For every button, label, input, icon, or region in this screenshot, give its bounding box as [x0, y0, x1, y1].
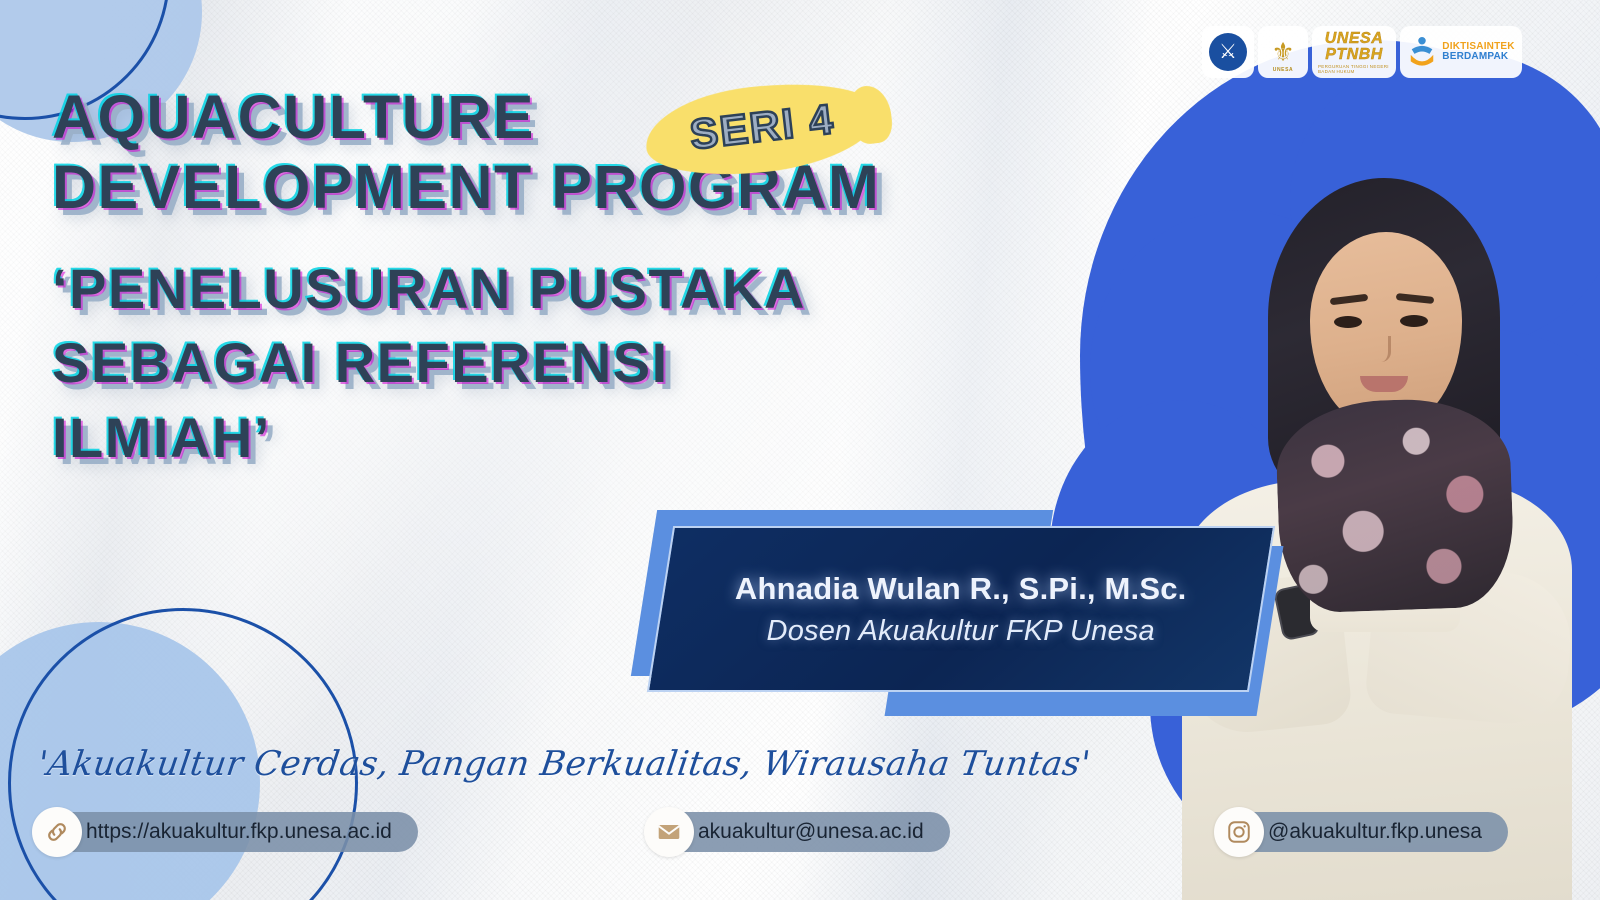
speaker-role: Dosen Akuakultur FKP Unesa: [735, 615, 1187, 648]
ptnbh-line2: PTNBH: [1325, 47, 1383, 63]
unesa-ptnbh-logo: UNESA PTNBH PERGURUAN TINGGI NEGERI BADA…: [1312, 26, 1396, 78]
logo-strip: ⚔ ⚜ UNESA UNESA PTNBH PERGURUAN TINGGI N…: [1202, 26, 1522, 78]
headline-line-4: SEBAGAI REFERENSI: [52, 336, 1072, 391]
unesa-icon: ⚜ UNESA: [1264, 32, 1302, 72]
envelope-icon: [644, 807, 694, 857]
link-icon: [32, 807, 82, 857]
headline-subtitle-group: ‘PENELUSURAN PUSTAKA SEBAGAI REFERENSI I…: [52, 262, 1072, 467]
poster-canvas: ⚔ ⚜ UNESA UNESA PTNBH PERGURUAN TINGGI N…: [0, 0, 1600, 900]
unesa-logo-word: UNESA: [1264, 67, 1302, 73]
speaker-name: Ahnadia Wulan R., S.Pi., M.Sc.: [735, 571, 1187, 607]
photo-scarf: [1274, 396, 1515, 614]
photo-face: [1310, 232, 1462, 428]
photo-eye-left: [1334, 316, 1362, 328]
speaker-card: Ahnadia Wulan R., S.Pi., M.Sc. Dosen Aku…: [636, 500, 1276, 712]
headline-line-2: DEVELOPMENT PROGRAM: [52, 158, 1072, 218]
unesa-logo: ⚜ UNESA: [1258, 26, 1308, 78]
speaker-card-body: Ahnadia Wulan R., S.Pi., M.Sc. Dosen Aku…: [647, 526, 1275, 692]
headline-line-3: ‘PENELUSURAN PUSTAKA: [52, 262, 1072, 317]
tut-wuri-handayani-logo: ⚔: [1202, 26, 1254, 78]
speaker-card-content: Ahnadia Wulan R., S.Pi., M.Sc. Dosen Aku…: [735, 571, 1187, 648]
headline-block: AQUACULTURE DEVELOPMENT PROGRAM ‘PENELUS…: [52, 88, 1072, 486]
diktisaintek-figure-icon: [1407, 36, 1437, 68]
contact-email[interactable]: akuakultur@unesa.ac.id: [652, 812, 950, 852]
ptnbh-line3: PERGURUAN TINGGI NEGERI BADAN HUKUM: [1318, 64, 1390, 74]
diktisaintek-wordmark: DIKTISAINTEK BERDAMPAK: [1442, 42, 1514, 63]
contact-email-label: akuakultur@unesa.ac.id: [698, 820, 924, 844]
photo-nose: [1375, 336, 1391, 362]
instagram-icon: [1214, 807, 1264, 857]
photo-eye-right: [1400, 315, 1428, 327]
tut-wuri-handayani-icon: ⚔: [1209, 33, 1247, 71]
diktisaintek-line2: BERDAMPAK: [1442, 52, 1514, 63]
ptnbh-line1: UNESA: [1325, 31, 1384, 47]
contact-instagram-label: @akuakultur.fkp.unesa: [1268, 820, 1482, 844]
contact-website[interactable]: https://akuakultur.fkp.unesa.ac.id: [40, 812, 418, 852]
contact-website-label: https://akuakultur.fkp.unesa.ac.id: [86, 820, 392, 844]
tagline: 'Akuakultur Cerdas, Pangan Berkualitas, …: [35, 744, 1093, 784]
diktisaintek-berdampak-logo: DIKTISAINTEK BERDAMPAK: [1400, 26, 1522, 78]
headline-line-1: AQUACULTURE: [52, 88, 1072, 148]
contact-instagram[interactable]: @akuakultur.fkp.unesa: [1222, 812, 1508, 852]
headline-line-5: ILMIAH’: [52, 411, 1072, 466]
